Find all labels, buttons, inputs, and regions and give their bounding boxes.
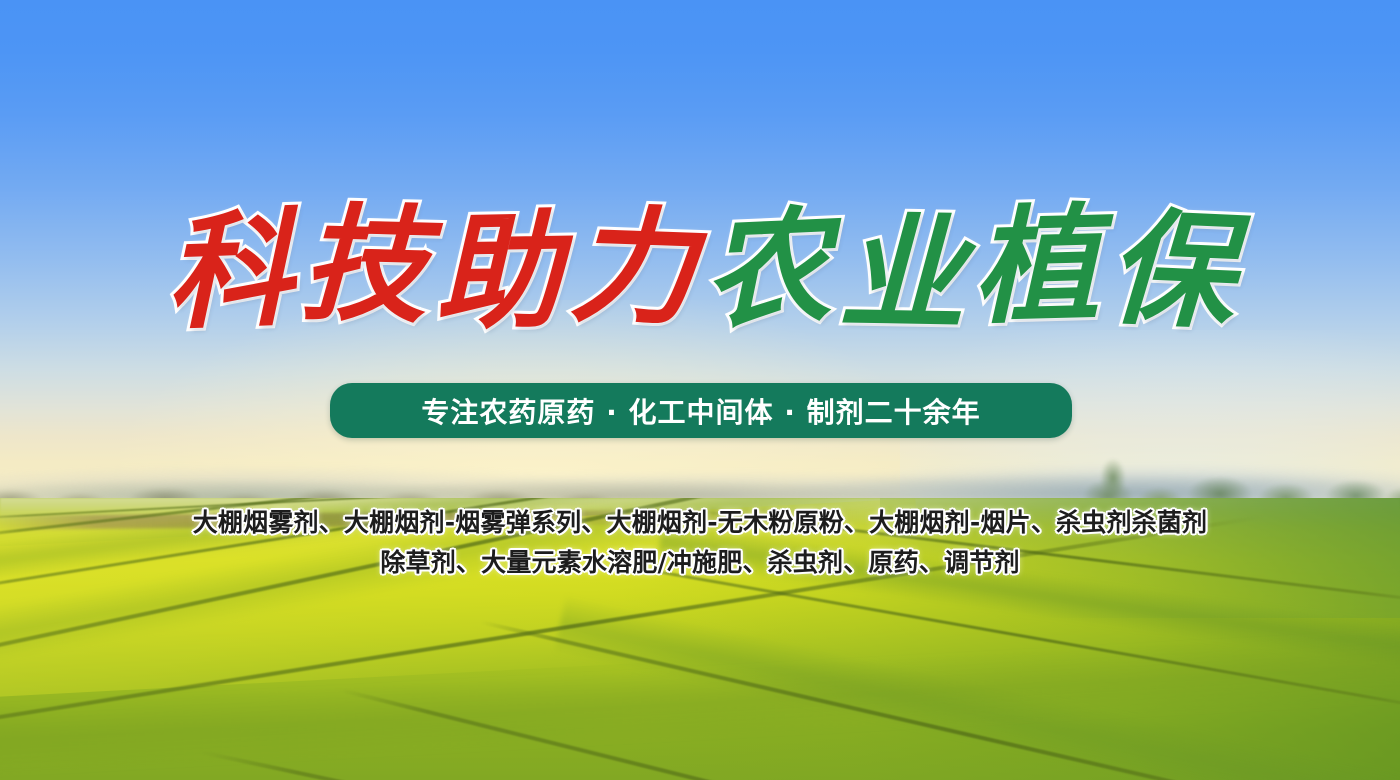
title-char-1: 科 [162, 206, 296, 336]
product-line-1: 大棚烟雾剂、大棚烟剂-烟雾弹系列、大棚烟剂-无木粉原粉、大棚烟剂-烟片、杀虫剂杀… [0, 503, 1400, 543]
page-title: 科 技 助 力 农 业 植 保 [0, 206, 1400, 332]
title-char-2: 技 [297, 200, 430, 329]
title-char-6: 业 [835, 210, 967, 338]
product-list: 大棚烟雾剂、大棚烟剂-烟雾弹系列、大棚烟剂-无木粉原粉、大棚烟剂-烟片、杀虫剂杀… [0, 503, 1400, 583]
title-char-8: 保 [1103, 204, 1238, 336]
hero-banner: 科 技 助 力 农 业 植 保 专注农药原药 · 化工中间体 · 制剂二十余年 … [0, 0, 1400, 780]
title-char-3: 助 [432, 208, 564, 336]
product-line-2: 除草剂、大量元素水溶肥/冲施肥、杀虫剂、原药、调节剂 [0, 543, 1400, 583]
subtitle-badge: 专注农药原药 · 化工中间体 · 制剂二十余年 [330, 383, 1072, 438]
subtitle-text: 专注农药原药 · 化工中间体 · 制剂二十余年 [421, 391, 980, 431]
tall-tree-right [1096, 452, 1130, 504]
title-char-7: 植 [969, 201, 1102, 330]
title-char-5: 农 [700, 203, 835, 335]
title-char-4: 力 [566, 202, 700, 332]
